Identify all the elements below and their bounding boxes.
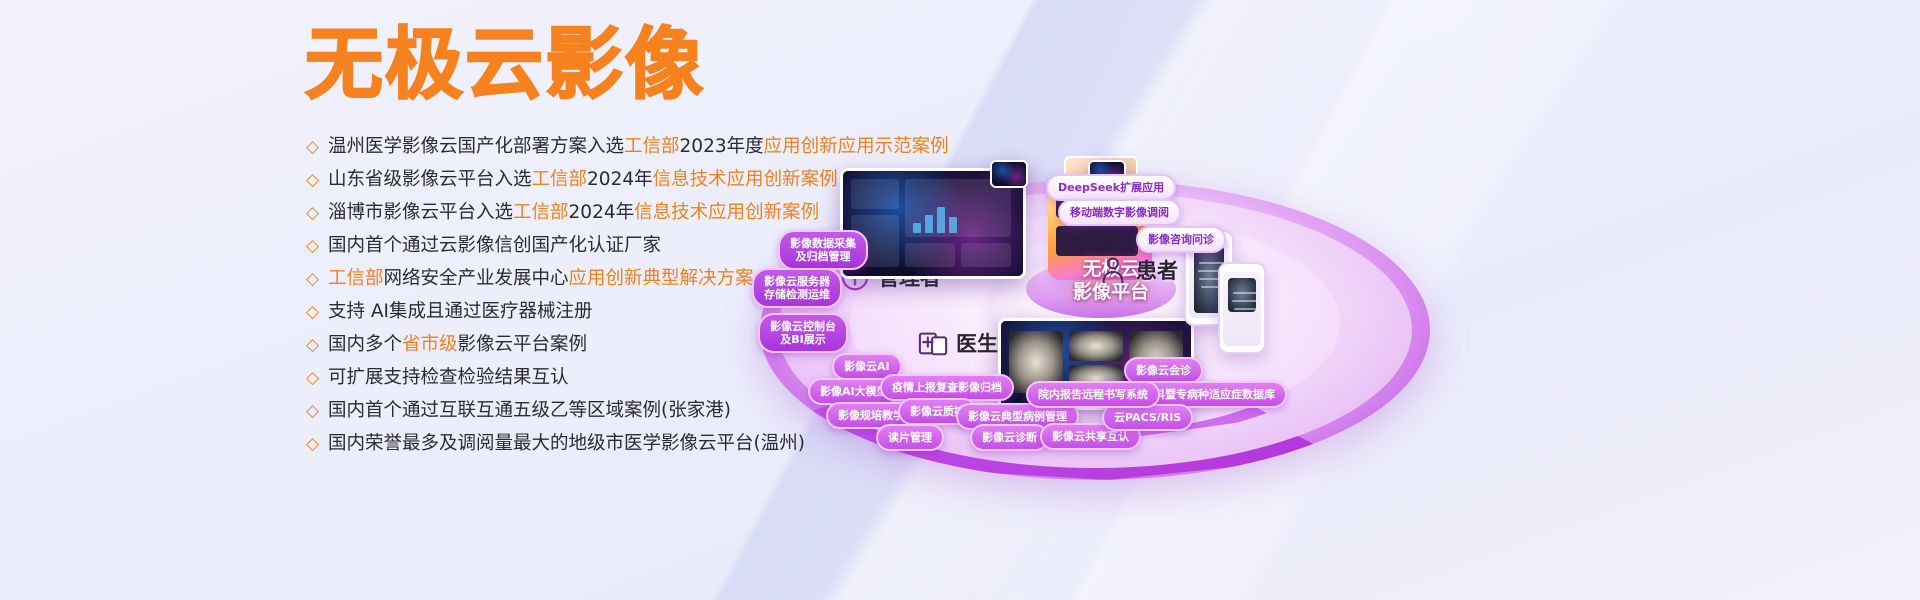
doctor-cross-icon xyxy=(918,328,948,358)
dashboard-bar-3 xyxy=(937,207,945,233)
highlight-text-segment: 可扩展支持检查检验结果互认 xyxy=(328,367,569,388)
highlight-text-segment: 国内首个通过云影像信创国产化认证厂家 xyxy=(328,235,661,256)
highlight-text-segment: 工信部 xyxy=(532,169,588,190)
highlight-text-segment: 山东省级影像云平台入选 xyxy=(328,169,532,190)
mini-screen-left xyxy=(990,160,1028,188)
highlight-text-segment: 网络安全产业发展中心 xyxy=(384,268,569,289)
mini-screen-left-content xyxy=(992,162,1026,186)
dashboard-tile-4 xyxy=(905,243,955,267)
highlight-text-segment: 工信部 xyxy=(624,136,680,157)
highlight-list-item-text: 国内多个省市级影像云平台案例 xyxy=(328,328,587,361)
highlight-list-item-text: 国内首个通过云影像信创国产化认证厂家 xyxy=(328,229,661,262)
capability-pill-console-bi[interactable]: 影像云控制台及BI展示 xyxy=(758,313,848,353)
dashboard-tile-1 xyxy=(851,179,899,209)
role-doctor: 医生 xyxy=(918,328,998,358)
role-patient-label: 患者 xyxy=(1136,255,1178,285)
highlight-text-segment: 影像云平台案例 xyxy=(458,334,588,355)
highlight-list-item-text: 国内首个通过互联互通五级乙等区域案例(张家港) xyxy=(328,394,731,427)
diamond-bullet-icon: ◇ xyxy=(306,130,328,163)
highlight-text-segment: 温州医学影像云国产化部署方案入选 xyxy=(328,136,624,157)
highlight-text-segment: 国内多个 xyxy=(328,334,402,355)
diamond-bullet-icon: ◇ xyxy=(306,262,328,295)
diamond-bullet-icon: ◇ xyxy=(306,229,328,262)
mri-image-2 xyxy=(1069,331,1123,361)
highlight-text-segment: 淄博市影像云平台入选 xyxy=(328,202,513,223)
patient-person-icon xyxy=(1098,255,1128,285)
capability-pill-img-consult[interactable]: 影像咨询问诊 xyxy=(1136,226,1226,253)
capability-pill-consultation[interactable]: 影像云会诊 xyxy=(1124,357,1203,384)
capability-pill-mobile-query[interactable]: 移动端数字影像调阅 xyxy=(1058,199,1181,226)
page-title: 无极云影像 xyxy=(305,22,705,108)
capability-pill-cloud-pacs[interactable]: 云PACS/RIS xyxy=(1102,404,1193,431)
capability-pill-film-mgmt[interactable]: 读片管理 xyxy=(876,424,944,451)
diamond-bullet-icon: ◇ xyxy=(306,328,328,361)
report-thumb xyxy=(1228,278,1256,312)
diamond-bullet-icon: ◇ xyxy=(306,394,328,427)
diamond-bullet-icon: ◇ xyxy=(306,295,328,328)
promo-banner: 无极云影像 ◇温州医学影像云国产化部署方案入选工信部2023年度应用创新应用示范… xyxy=(0,0,1920,600)
highlight-list-item-text: 可扩展支持检查检验结果互认 xyxy=(328,361,569,394)
diamond-bullet-icon: ◇ xyxy=(306,361,328,394)
dashboard-bar-4 xyxy=(949,217,957,233)
patient-phone-report xyxy=(1218,262,1266,354)
highlight-text-segment: 省市级 xyxy=(402,334,458,355)
capability-pill-data-capture[interactable]: 影像数据采集及归档管理 xyxy=(778,230,868,270)
tower-screen-3 xyxy=(1056,226,1138,256)
highlight-text-segment: 工信部 xyxy=(513,202,569,223)
capability-pill-cloud-server[interactable]: 影像云服务器存储检测运维 xyxy=(752,268,842,308)
platform-illustration: 无极云 影像平台 管理者 医生 患者 xyxy=(690,0,1920,600)
highlight-list-item-text: 支持 AI集成且通过医疗器械注册 xyxy=(328,295,593,328)
role-doctor-label: 医生 xyxy=(956,328,998,358)
highlight-text-segment: 2024年 xyxy=(587,169,653,190)
highlight-text-segment: 国内首个通过互联互通五级乙等区域案例(张家港) xyxy=(328,400,731,421)
highlight-text-segment: 2024年 xyxy=(569,202,635,223)
role-patient: 患者 xyxy=(1098,255,1178,285)
capability-pill-deepseek[interactable]: DeepSeek扩展应用 xyxy=(1046,174,1176,201)
capability-pill-remote-report[interactable]: 院内报告远程书写系统 xyxy=(1026,381,1160,408)
diamond-bullet-icon: ◇ xyxy=(306,427,328,460)
dashboard-tile-5 xyxy=(961,243,1011,267)
dashboard-bar-1 xyxy=(913,223,921,233)
highlight-text-segment: 支持 AI集成且通过医疗器械注册 xyxy=(328,301,593,322)
capability-pill-diagnosis[interactable]: 影像云诊断 xyxy=(970,424,1049,451)
dashboard-bar-2 xyxy=(925,215,933,233)
phone-screen-2 xyxy=(1223,272,1261,346)
capability-pill-epidemic-scan[interactable]: 疫情上报复查影像归档 xyxy=(880,374,1014,401)
highlight-text-segment: 工信部 xyxy=(328,268,384,289)
diamond-bullet-icon: ◇ xyxy=(306,196,328,229)
diamond-bullet-icon: ◇ xyxy=(306,163,328,196)
